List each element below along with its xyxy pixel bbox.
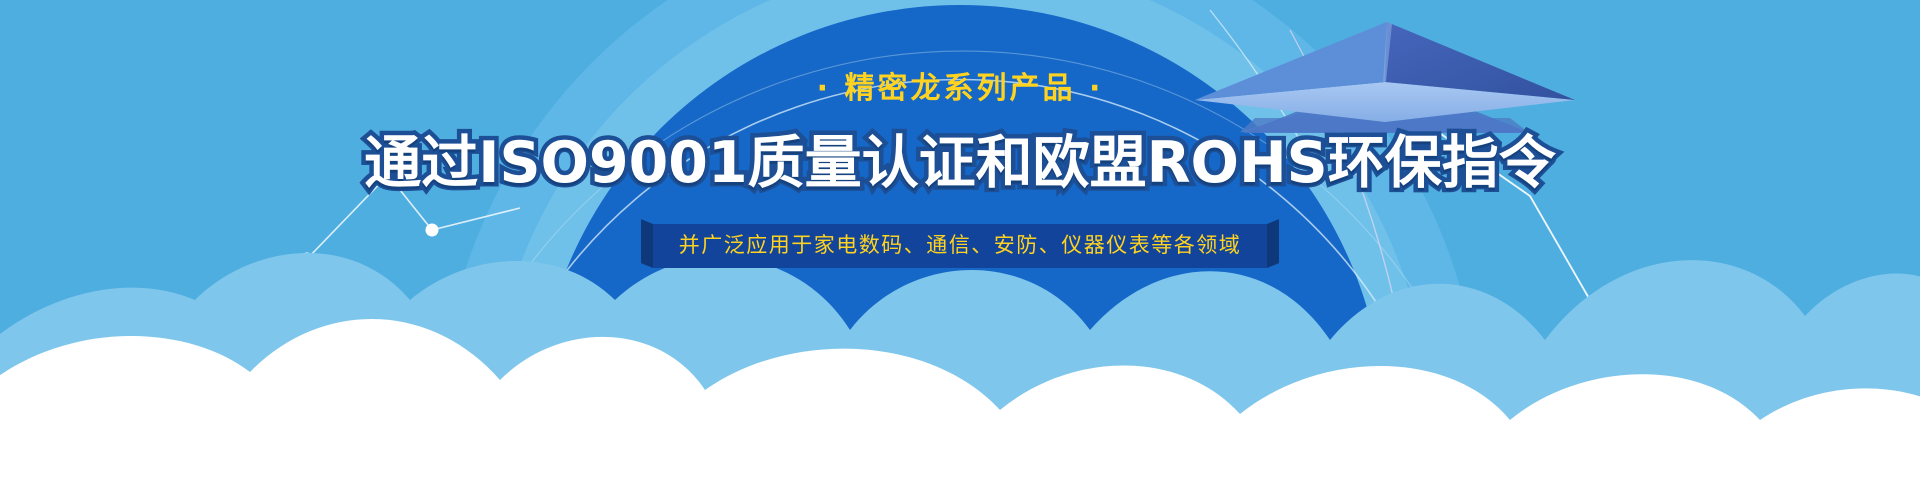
node-dot	[426, 224, 439, 237]
node-dot	[381, 168, 395, 182]
banner-background-art	[0, 0, 1920, 480]
promo-banner: · 精密龙系列产品 · 通过ISO9001质量认证和欧盟ROHS环保指令 并广泛…	[0, 0, 1920, 480]
